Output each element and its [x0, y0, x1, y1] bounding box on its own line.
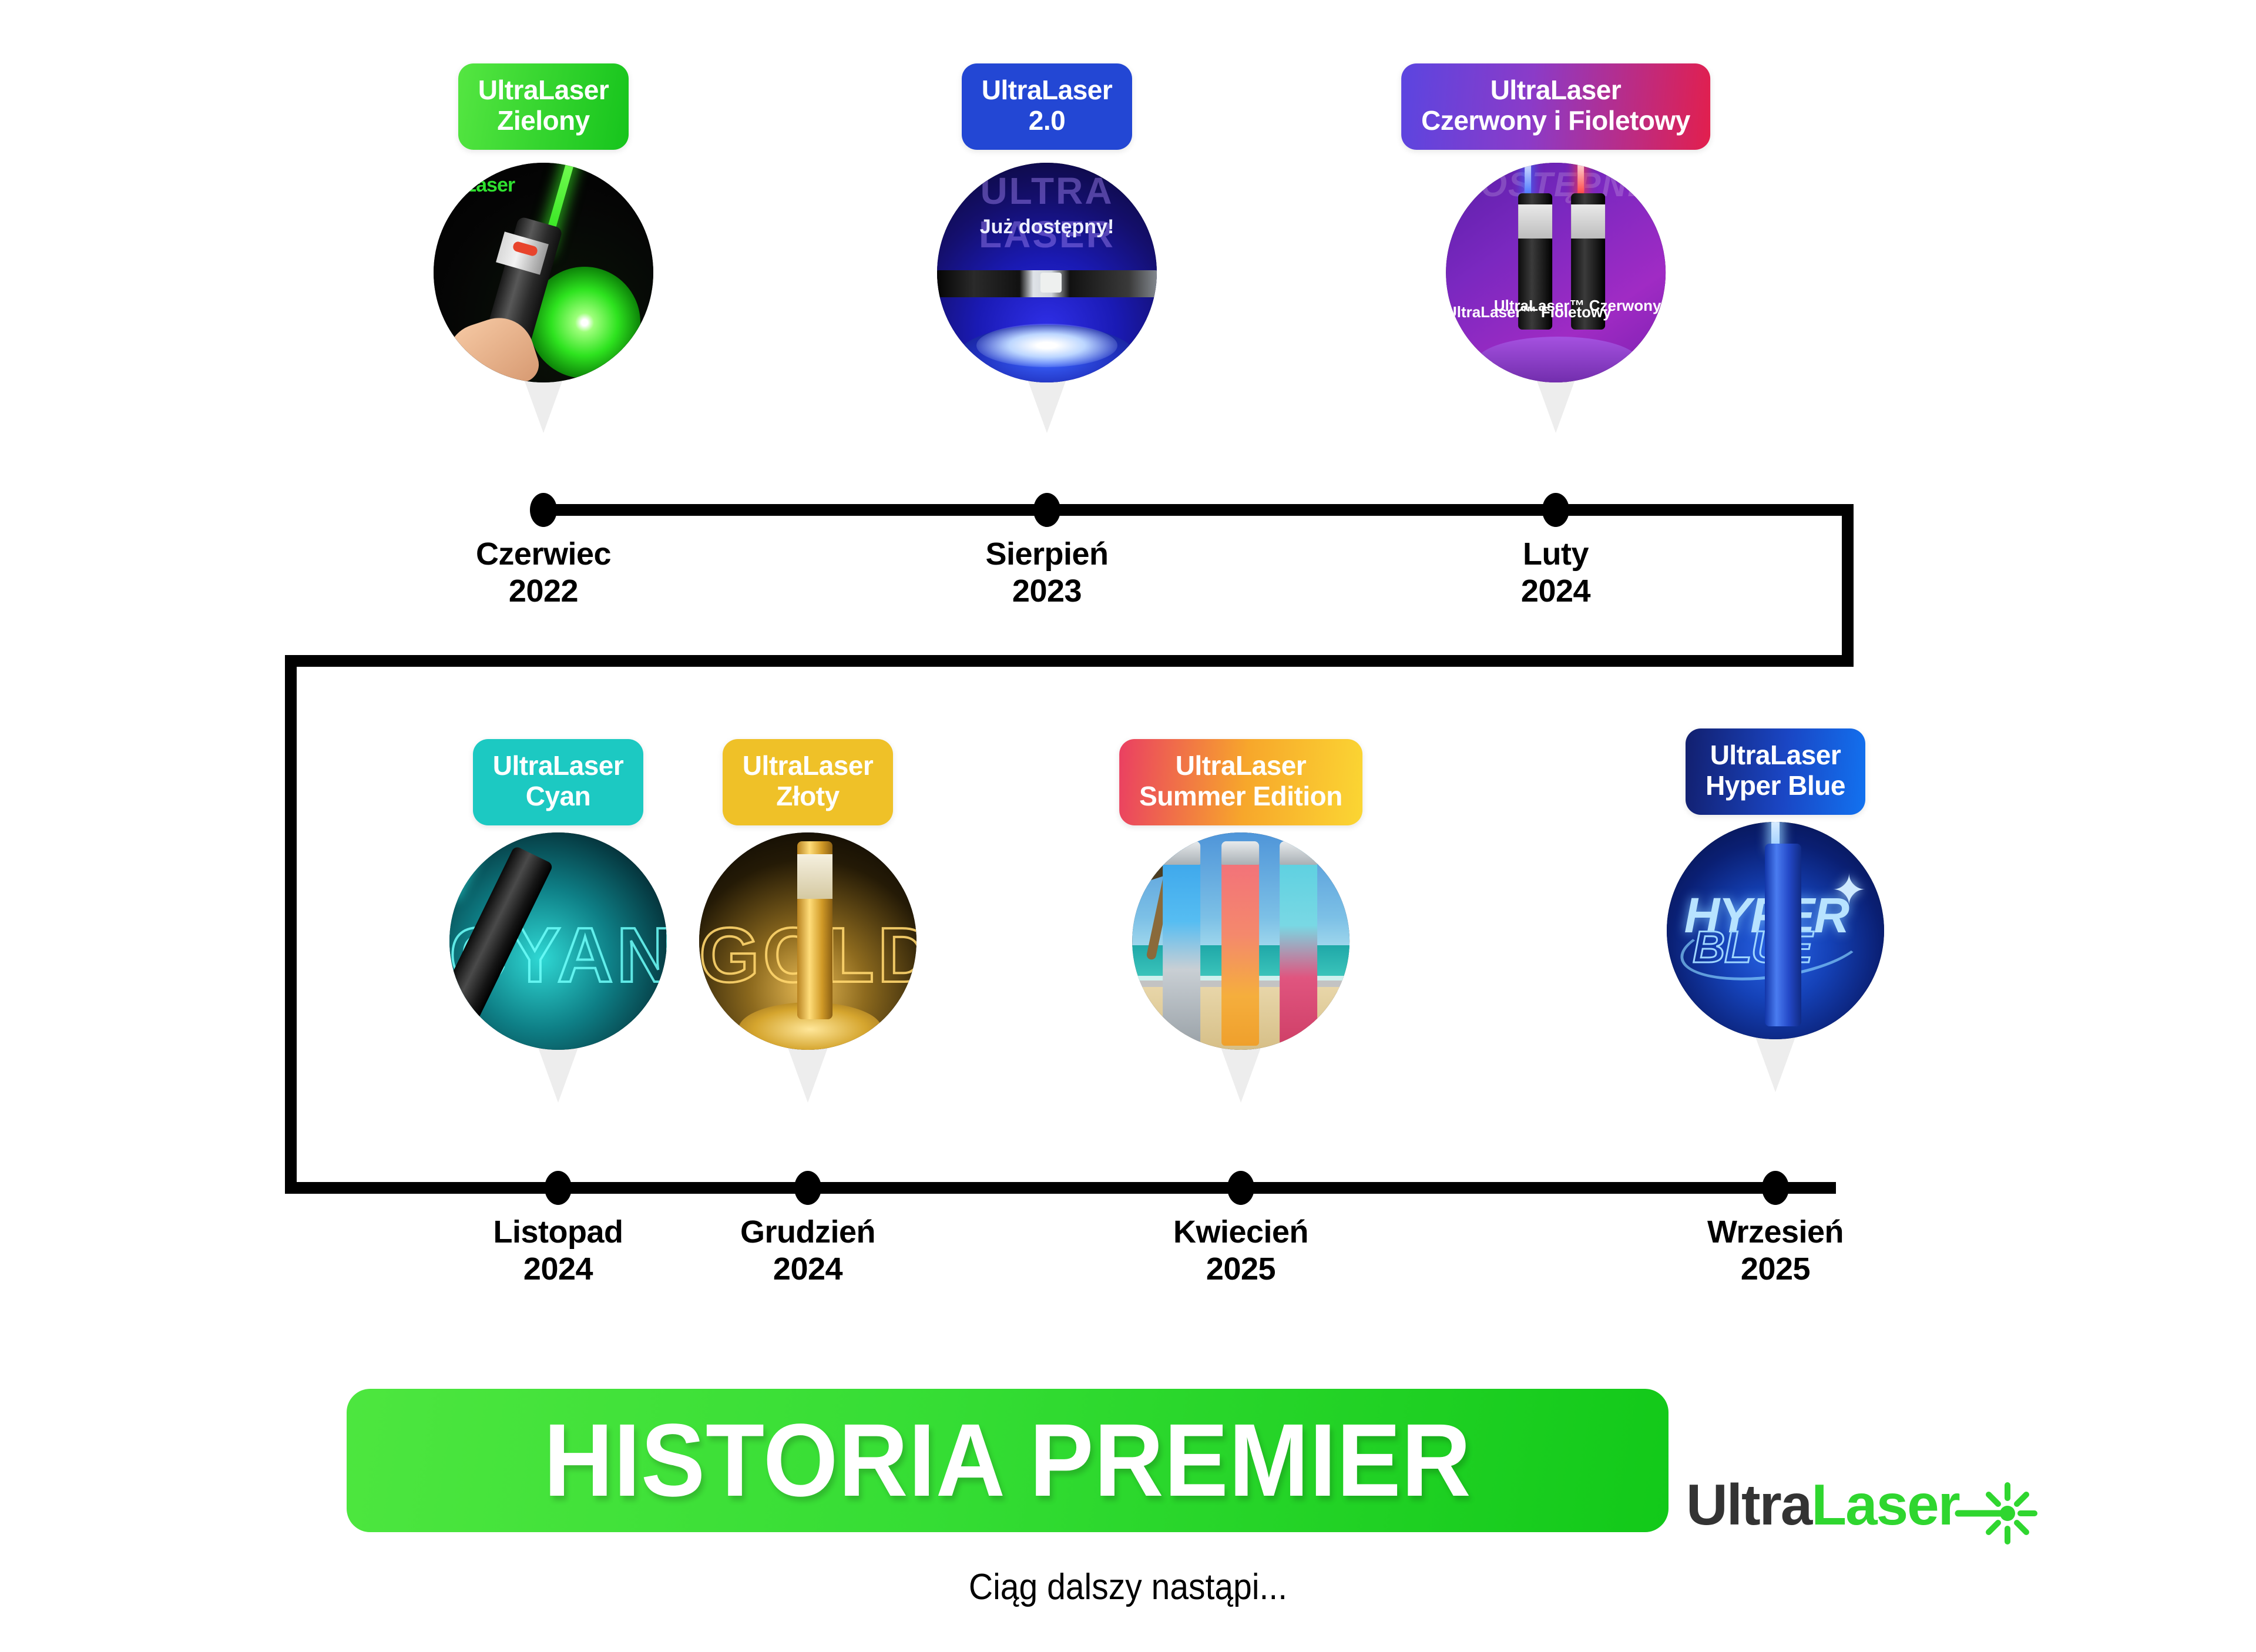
photo-bubble-2: ULTRA LASER Już dostępny! — [937, 163, 1157, 382]
date-year: 2022 — [476, 573, 611, 610]
badge-hyper-blue[interactable]: UltraLaser Hyper Blue — [1686, 728, 1865, 815]
page-title: HISTORIA PREMIER — [543, 1409, 1471, 1512]
badge-20[interactable]: UltraLaser 2.0 — [962, 63, 1133, 150]
badge-line2: Summer Edition — [1139, 781, 1342, 812]
date-month: Luty — [1521, 536, 1590, 573]
badge-line1: UltraLaser — [982, 75, 1113, 106]
date-label-3: Luty 2024 — [1521, 536, 1590, 609]
photo-bubble-3: DOSTĘPNE UltraLaser™ Fioletowy UltraLase… — [1446, 163, 1666, 382]
badge-line1: UltraLaser — [743, 751, 874, 781]
badge-zielony[interactable]: UltraLaser Zielony — [458, 63, 629, 150]
milestone-4[interactable]: UltraLaser Cyan CYAN — [449, 739, 667, 1050]
hyper-blue-laser-photo: HYPER BLUE ✦ — [1667, 822, 1884, 1039]
date-label-5: Grudzień 2024 — [740, 1214, 875, 1287]
laser-burst-icon — [1955, 1477, 2043, 1547]
timeline-dot-5 — [794, 1171, 821, 1205]
date-label-1: Czerwiec 2022 — [476, 536, 611, 609]
badge-line1: UltraLaser — [1139, 751, 1342, 781]
photo-bubble-1: Laser — [434, 163, 653, 382]
timeline-dot-7 — [1762, 1171, 1789, 1205]
timeline-dot-3 — [1542, 493, 1569, 527]
date-month: Kwiecień — [1173, 1214, 1308, 1251]
timeline-dot-4 — [545, 1171, 572, 1205]
logo-text: UltraLaser — [1686, 1476, 1959, 1533]
timeline-dot-6 — [1227, 1171, 1254, 1205]
date-label-2: Sierpień 2023 — [985, 536, 1108, 609]
milestone-2[interactable]: UltraLaser 2.0 ULTRA LASER Już dostępny! — [937, 63, 1157, 382]
date-year: 2025 — [1173, 1251, 1308, 1288]
badge-summer-edition[interactable]: UltraLaser Summer Edition — [1119, 739, 1362, 825]
milestone-7[interactable]: UltraLaser Hyper Blue HYPER BLUE ✦ — [1667, 728, 1884, 1039]
date-year: 2024 — [740, 1251, 875, 1288]
date-year: 2024 — [1521, 573, 1590, 610]
blue-laser-photo: ULTRA LASER Już dostępny! — [937, 163, 1157, 382]
green-laser-photo: Laser — [434, 163, 653, 382]
badge-line2: 2.0 — [982, 106, 1113, 136]
photo-bubble-7: HYPER BLUE ✦ — [1667, 822, 1884, 1039]
logo-laser-text: Laser — [1811, 1472, 1959, 1537]
date-month: Sierpień — [985, 536, 1108, 573]
date-label-7: Wrzesień 2025 — [1707, 1214, 1844, 1287]
badge-line1: UltraLaser — [1706, 740, 1845, 771]
tagline: Ciąg dalszy nastąpi... — [969, 1566, 1287, 1608]
title-banner: HISTORIA PREMIER — [347, 1389, 1668, 1532]
photo-label-right: UltraLaser™ Czerwony — [1494, 297, 1661, 315]
photo-caption: Już dostępny! — [937, 216, 1157, 239]
sparkle-icon: ✦ — [1831, 865, 1866, 915]
date-label-6: Kwiecień 2025 — [1173, 1214, 1308, 1287]
date-month: Wrzesień — [1707, 1214, 1844, 1251]
badge-czerwony-fioletowy[interactable]: UltraLaser Czerwony i Fioletowy — [1401, 63, 1710, 150]
date-month: Czerwiec — [476, 536, 611, 573]
gold-laser-photo: GOLD — [699, 832, 916, 1050]
date-year: 2023 — [985, 573, 1108, 610]
badge-line1: UltraLaser — [478, 75, 609, 106]
photo-bubble-6 — [1132, 832, 1349, 1050]
photo-watermark: Laser — [464, 174, 515, 197]
timeline-dot-1 — [530, 493, 557, 527]
date-month: Grudzień — [740, 1214, 875, 1251]
cyan-laser-photo: CYAN — [449, 832, 667, 1050]
badge-line2: Zielony — [478, 106, 609, 136]
badge-zloty[interactable]: UltraLaser Złoty — [723, 739, 894, 825]
photo-bubble-5: GOLD — [699, 832, 916, 1050]
badge-line1: UltraLaser — [1421, 75, 1690, 106]
badge-line2: Hyper Blue — [1706, 771, 1845, 801]
logo-ultra-text: Ultra — [1686, 1472, 1811, 1537]
date-month: Listopad — [493, 1214, 623, 1251]
infographic-canvas: UltraLaser Zielony Laser Czerwiec 2022 U… — [0, 0, 2256, 1652]
ultralaser-logo: UltraLaser — [1686, 1462, 2043, 1547]
date-label-4: Listopad 2024 — [493, 1214, 623, 1287]
date-year: 2025 — [1707, 1251, 1844, 1288]
red-violet-lasers-photo: DOSTĘPNE UltraLaser™ Fioletowy UltraLase… — [1446, 163, 1666, 382]
date-year: 2024 — [493, 1251, 623, 1288]
milestone-1[interactable]: UltraLaser Zielony Laser — [434, 63, 653, 382]
milestone-3[interactable]: UltraLaser Czerwony i Fioletowy DOSTĘPNE… — [1401, 63, 1710, 382]
badge-line2: Cyan — [493, 781, 624, 812]
photo-watermark: DOSTĘPNE — [1455, 165, 1651, 204]
summer-edition-lasers-photo — [1132, 832, 1349, 1050]
milestone-6[interactable]: UltraLaser Summer Edition — [1119, 739, 1362, 1050]
milestone-5[interactable]: UltraLaser Złoty GOLD — [699, 739, 916, 1050]
badge-line1: UltraLaser — [493, 751, 624, 781]
timeline-dot-2 — [1033, 493, 1060, 527]
badge-line2: Czerwony i Fioletowy — [1421, 106, 1690, 136]
badge-line2: Złoty — [743, 781, 874, 812]
photo-watermark: ULTRA LASER — [937, 169, 1157, 256]
photo-bubble-4: CYAN — [449, 832, 667, 1050]
badge-cyan[interactable]: UltraLaser Cyan — [473, 739, 644, 825]
